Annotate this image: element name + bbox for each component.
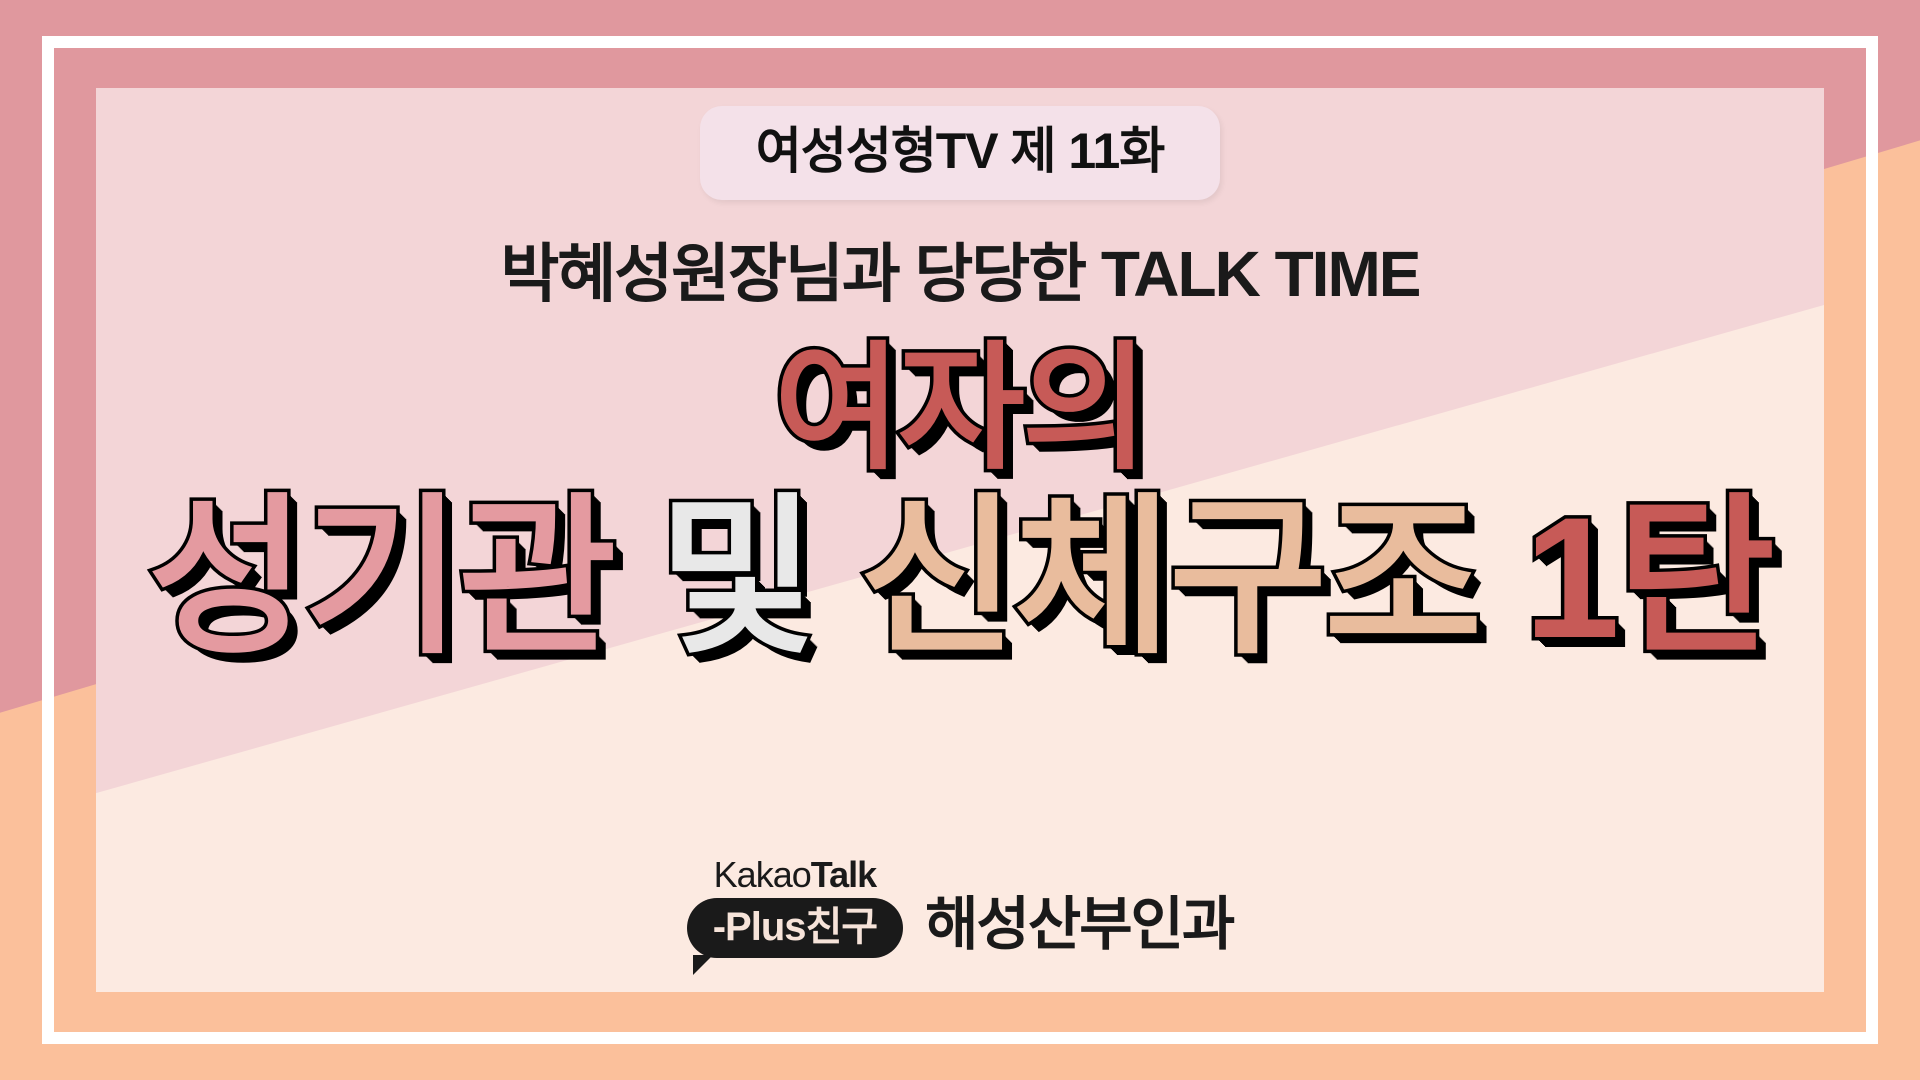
headline-word-seonggigwan: 성기관 bbox=[148, 492, 614, 664]
thumbnail-canvas: 여성성형TV 제 11화 박혜성원장님과 당당한 TALK TIME 여자의 성… bbox=[0, 0, 1920, 1080]
kakaotalk-wordmark-light: Kakao bbox=[714, 854, 811, 895]
episode-badge-label: 여성성형TV 제 11화 bbox=[756, 126, 1165, 176]
headline-word-part1: 1탄 bbox=[1524, 492, 1772, 664]
headline-word-sinchegujo-spacer bbox=[814, 492, 859, 664]
plus-friend-pill[interactable]: -Plus친구 bbox=[687, 898, 903, 958]
headline-word-yeojaui: 여자의 bbox=[774, 340, 1146, 478]
headline-word-part1-spacer bbox=[1479, 492, 1524, 664]
kakaotalk-wordmark-bold: Talk bbox=[811, 854, 876, 895]
footer-branding: KakaoTalk -Plus친구 해성산부인과 bbox=[96, 857, 1824, 958]
kakaotalk-plus-friend-logo[interactable]: KakaoTalk -Plus친구 bbox=[687, 857, 903, 958]
headline-line-1: 여자의 bbox=[774, 340, 1146, 478]
plus-friend-dash: - bbox=[713, 905, 725, 949]
clinic-name-label: 해성산부인과 bbox=[925, 896, 1233, 958]
inner-panel: 여성성형TV 제 11화 박혜성원장님과 당당한 TALK TIME 여자의 성… bbox=[96, 88, 1824, 992]
headline-line-2: 성기관 및 신체구조 1탄 bbox=[148, 492, 1772, 664]
speech-bubble-tail-icon bbox=[693, 955, 713, 975]
subtitle-line: 박혜성원장님과 당당한 TALK TIME bbox=[501, 242, 1420, 306]
headline-word-mit-spacer bbox=[614, 492, 659, 664]
headline-word-sinchegujo: 신체구조 bbox=[858, 492, 1479, 664]
episode-badge: 여성성형TV 제 11화 bbox=[700, 106, 1221, 200]
plus-friend-label: Plus친구 bbox=[725, 905, 877, 949]
headline-word-mit: 및 bbox=[658, 492, 813, 664]
kakaotalk-wordmark: KakaoTalk bbox=[714, 857, 876, 893]
